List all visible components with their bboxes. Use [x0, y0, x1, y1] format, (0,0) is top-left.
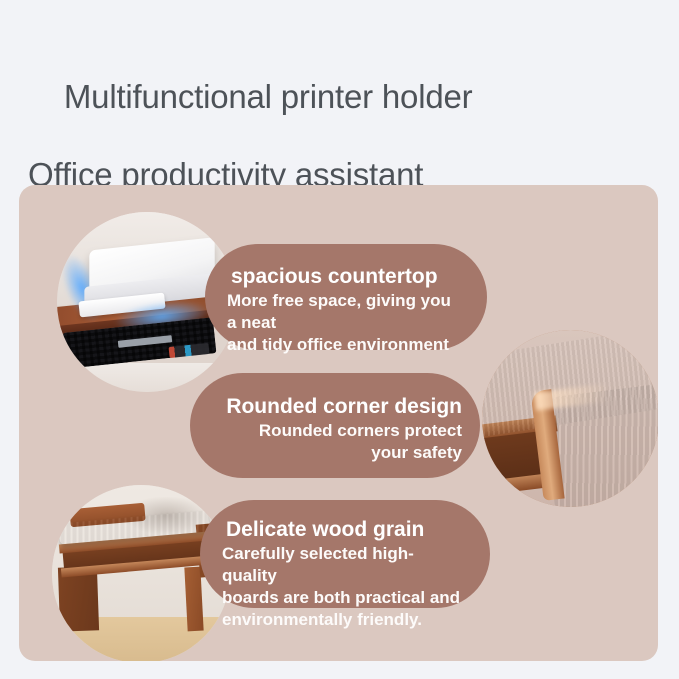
feature-description-line-2: your safety	[208, 442, 462, 464]
feature-panel: spacious countertop More free space, giv…	[19, 185, 658, 661]
feature-description-line-1: More free space, giving you a neat	[227, 290, 465, 334]
feature-callout-delicate-wood-grain: Delicate wood grain Carefully selected h…	[200, 500, 490, 608]
feature-callout-spacious-countertop: spacious countertop More free space, giv…	[205, 244, 487, 350]
page-title-line-1: Multifunctional printer holder	[64, 78, 473, 115]
feature-description-line-1: Carefully selected high-quality	[222, 543, 468, 587]
feature-description-line-1: Rounded corners protect	[208, 420, 462, 442]
feature-title: Rounded corner design	[208, 394, 462, 420]
rounded-wood-corner-photo	[482, 330, 658, 507]
feature-title: Delicate wood grain	[222, 517, 468, 543]
feature-callout-rounded-corner-design: Rounded corner design Rounded corners pr…	[190, 373, 480, 478]
feature-description-line-2: boards are both practical and	[222, 587, 468, 609]
product-infographic: Multifunctional printer holder Office pr…	[0, 0, 679, 679]
feature-title: spacious countertop	[227, 264, 465, 290]
feature-description-line-2: and tidy office environment	[227, 334, 465, 356]
feature-description-line-3: environmentally friendly.	[222, 609, 468, 631]
